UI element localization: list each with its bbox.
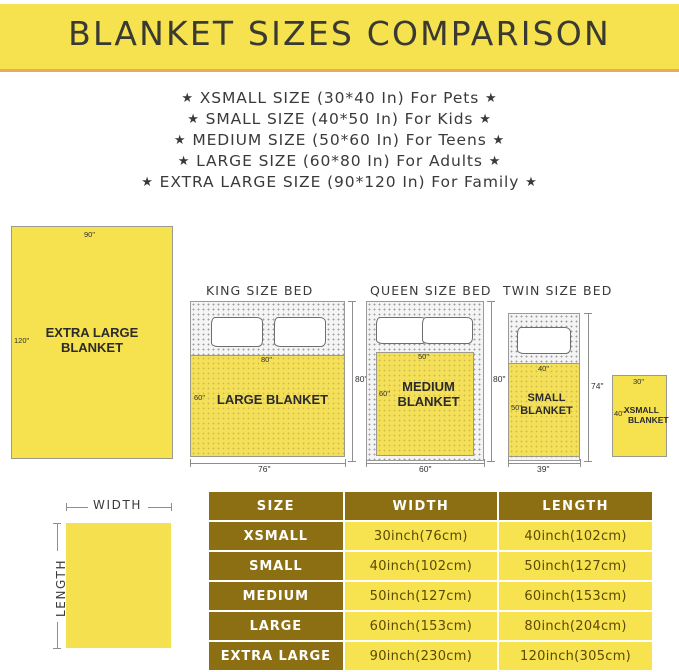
twin-bed-length-dimension: 74" — [591, 381, 603, 391]
cell-length: 80inch(204cm) — [499, 612, 652, 640]
cell-size: EXTRA LARGE — [209, 642, 343, 670]
cell-width: 30inch(76cm) — [345, 522, 497, 550]
size-comparison-table: SIZE WIDTH LENGTH XSMALL 30inch(76cm) 40… — [207, 490, 654, 672]
width-key-rule-left — [66, 507, 88, 508]
medium-blanket-width-dimension: 50" — [418, 352, 429, 361]
king-pillow-right — [274, 317, 326, 347]
queen-bed-length-dimension: 80" — [493, 374, 505, 384]
infographic-page: BLANKET SIZES COMPARISON ★ XSMALL SIZE (… — [0, 0, 679, 667]
king-length-rule — [352, 301, 353, 461]
cell-width: 50inch(127cm) — [345, 582, 497, 610]
twin-width-tick-right — [580, 459, 581, 467]
queen-length-tick-top — [487, 301, 495, 302]
cell-width: 40inch(102cm) — [345, 552, 497, 580]
xsmall-blanket-label: XSMALL BLANKET — [624, 405, 667, 425]
table-row: XSMALL 30inch(76cm) 40inch(102cm) — [209, 522, 652, 550]
twin-length-tick-top — [584, 313, 592, 314]
king-length-tick-bottom — [348, 461, 356, 462]
cell-size: LARGE — [209, 612, 343, 640]
twin-width-tick-left — [508, 459, 509, 467]
queen-pillow-right — [422, 317, 473, 344]
length-key-tick-bottom — [53, 648, 61, 649]
king-bed-width-dimension: 76" — [258, 464, 270, 474]
cell-size: MEDIUM — [209, 582, 343, 610]
twin-bed-label: TWIN SIZE BED — [503, 283, 612, 298]
cell-width: 60inch(153cm) — [345, 612, 497, 640]
table-row: MEDIUM 50inch(127cm) 60inch(153cm) — [209, 582, 652, 610]
extra-large-width-dimension: 90" — [84, 230, 95, 239]
xsmall-width-dimension: 30" — [633, 377, 644, 386]
column-header-length: LENGTH — [499, 492, 652, 520]
cell-length: 60inch(153cm) — [499, 582, 652, 610]
queen-width-tick-left — [366, 459, 367, 467]
twin-bed-width-dimension: 39" — [537, 464, 549, 474]
length-key-rule-bottom — [57, 622, 58, 648]
cell-length: 120inch(305cm) — [499, 642, 652, 670]
table-row: EXTRA LARGE 90inch(230cm) 120inch(305cm) — [209, 642, 652, 670]
queen-length-rule — [491, 301, 492, 461]
cell-length: 40inch(102cm) — [499, 522, 652, 550]
queen-pillow-left — [376, 317, 427, 344]
width-length-swatch — [66, 523, 171, 648]
column-header-width: WIDTH — [345, 492, 497, 520]
queen-bed-label: QUEEN SIZE BED — [370, 283, 492, 298]
king-pillow-left — [211, 317, 263, 347]
queen-width-tick-right — [484, 459, 485, 467]
small-blanket-width-dimension: 40" — [538, 364, 549, 373]
length-key-rule-top — [57, 523, 58, 551]
table-row: LARGE 60inch(153cm) 80inch(204cm) — [209, 612, 652, 640]
queen-length-tick-bottom — [487, 461, 495, 462]
king-length-tick-top — [348, 301, 356, 302]
cell-length: 50inch(127cm) — [499, 552, 652, 580]
width-key-tick-left — [66, 503, 67, 511]
queen-bed-width-dimension: 60" — [419, 464, 431, 474]
width-key-tick-right — [171, 503, 172, 511]
table-row: SMALL 40inch(102cm) 50inch(127cm) — [209, 552, 652, 580]
king-bed-label: KING SIZE BED — [206, 283, 313, 298]
large-blanket-width-dimension: 80" — [261, 355, 272, 364]
extra-large-blanket-label: EXTRA LARGE BLANKET — [11, 325, 173, 355]
width-key-label: WIDTH — [93, 498, 142, 512]
small-blanket-label: SMALL BLANKET — [513, 392, 580, 418]
cell-size: XSMALL — [209, 522, 343, 550]
length-key-tick-top — [53, 523, 61, 524]
cell-size: SMALL — [209, 552, 343, 580]
large-blanket-label: LARGE BLANKET — [200, 392, 345, 407]
twin-length-tick-bottom — [584, 461, 592, 462]
width-key-rule-right — [148, 507, 171, 508]
king-width-tick-right — [345, 459, 346, 467]
length-key-label: LENGTH — [54, 559, 68, 617]
medium-blanket-label: MEDIUM BLANKET — [383, 379, 474, 409]
king-width-tick-left — [190, 459, 191, 467]
column-header-size: SIZE — [209, 492, 343, 520]
twin-length-rule — [588, 313, 589, 461]
table-header-row: SIZE WIDTH LENGTH — [209, 492, 652, 520]
twin-pillow — [517, 327, 571, 354]
cell-width: 90inch(230cm) — [345, 642, 497, 670]
